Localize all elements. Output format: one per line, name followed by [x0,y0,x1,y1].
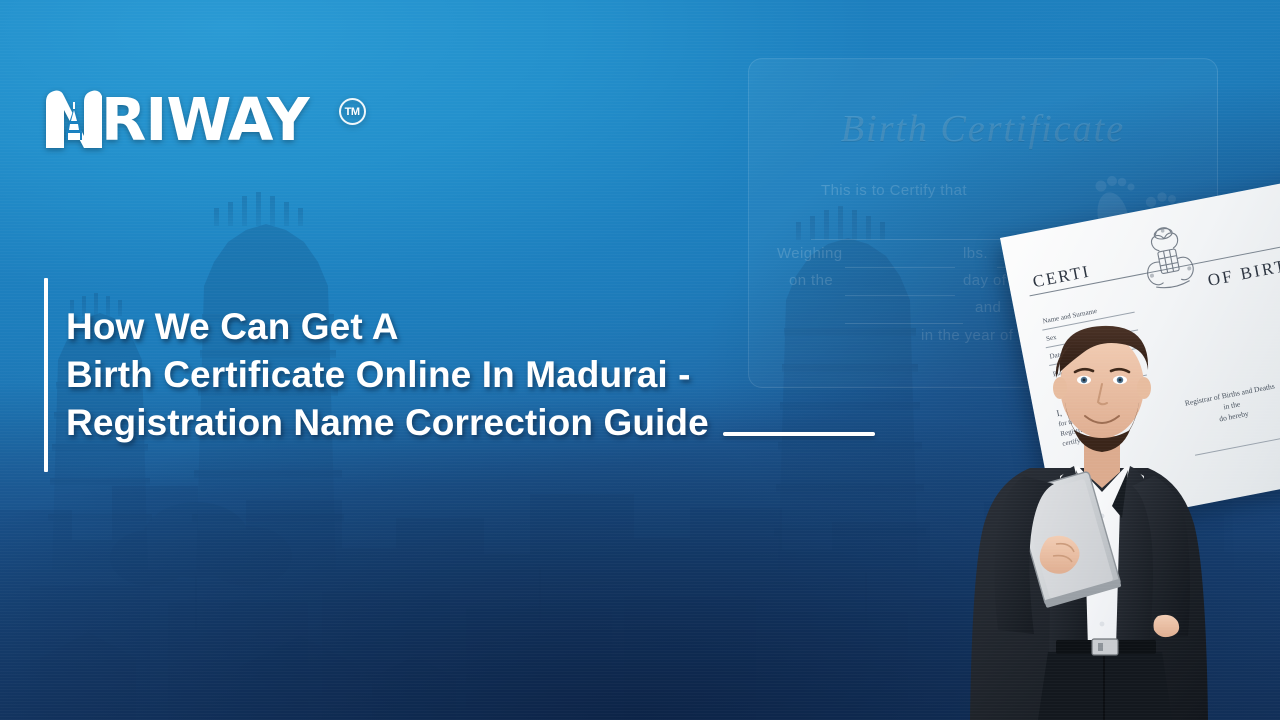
logo-wordmark: RIWAY [101,90,309,149]
headline-block: How We Can Get A Birth Certificate Onlin… [44,278,875,472]
accent-bar [44,278,48,472]
nriway-logo[interactable]: RIWAY TM [44,88,366,150]
headline-line-2: Birth Certificate Online In Madurai - [66,351,875,399]
headline-underline [723,432,875,436]
temple-tower-n-icon [44,88,104,150]
hero-banner: Birth Certificate This is to Certify tha… [0,0,1280,720]
headline-line-1: How We Can Get A [66,303,875,351]
businessman-photo [952,280,1280,720]
headline-line-3: Registration Name Correction Guide [66,399,709,447]
trademark-icon: TM [339,98,366,125]
page-title: How We Can Get A Birth Certificate Onlin… [66,303,875,447]
